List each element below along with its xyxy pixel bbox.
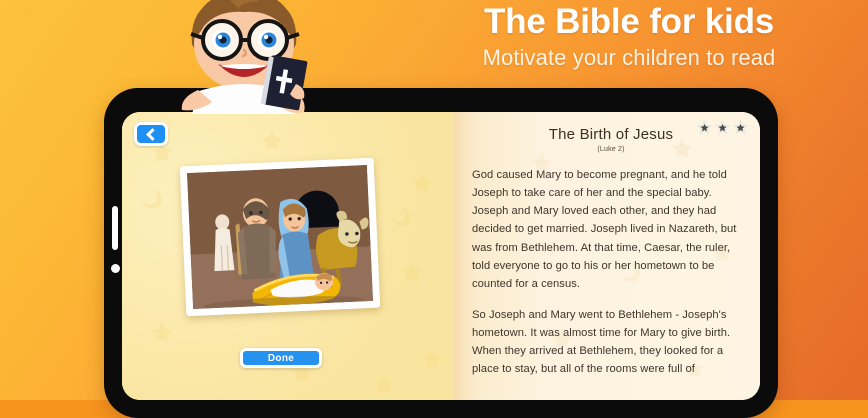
promo-header: The Bible for kids Motivate your childre… <box>398 2 860 72</box>
story-paragraph: So Joseph and Mary went to Bethlehem - J… <box>472 306 750 379</box>
back-button[interactable] <box>134 122 168 146</box>
side-round-button[interactable] <box>111 264 120 273</box>
chevron-left-icon <box>146 128 159 141</box>
promo-subtitle: Motivate your children to read <box>398 45 860 71</box>
story-panel: The Birth of Jesus (Luke 2) God caused M… <box>472 126 750 392</box>
done-button[interactable]: Done <box>240 348 322 368</box>
story-reference: (Luke 2) <box>472 146 750 153</box>
nativity-scene-image <box>187 165 373 309</box>
story-title: The Birth of Jesus <box>472 126 750 144</box>
story-illustration[interactable] <box>180 158 381 317</box>
story-paragraph: God caused Mary to become pregnant, and … <box>472 166 750 293</box>
phone-device: Done The Birth of Jesus (Luke 2) God cau… <box>104 88 778 418</box>
app-screen: Done The Birth of Jesus (Luke 2) God cau… <box>122 112 760 400</box>
promo-title: The Bible for kids <box>398 2 860 41</box>
volume-rocker-button[interactable] <box>112 206 118 250</box>
mascot-boy-with-bible <box>168 0 320 114</box>
